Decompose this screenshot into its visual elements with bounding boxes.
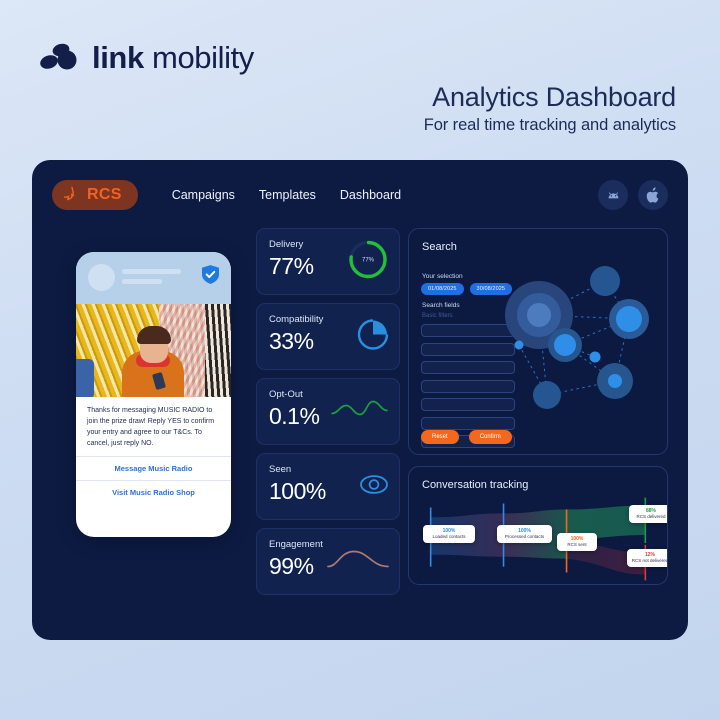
- engagement-sparkline-chart: [326, 546, 390, 577]
- search-panel-title: Search: [409, 229, 667, 253]
- funnel-node-rcs-delivered: 88% RCS delivered: [629, 505, 668, 523]
- phone-preview: Thanks for messaging MUSIC RADIO to join…: [76, 252, 231, 537]
- funnel-node-processed-contacts: 100% Processed contacts: [497, 525, 552, 543]
- node-label: RCS delivered: [633, 514, 668, 520]
- search-panel: Search Your selection 01/08/2025 30/08/2…: [408, 228, 668, 455]
- funnel-node-rcs-not-delivered: 12% RCS not delivered: [627, 549, 668, 567]
- delivery-donut-chart: 77%: [346, 237, 390, 286]
- node-label: RCS not delivered: [631, 558, 668, 564]
- search-fields-label: Search fields: [422, 302, 460, 309]
- rcs-chat-play-icon: [64, 187, 81, 204]
- phone-header: [76, 252, 231, 304]
- optout-sparkline-chart: [330, 396, 390, 427]
- brand-wordmark: link mobility: [92, 42, 254, 73]
- avatar: [88, 264, 115, 291]
- brand-name-light: mobility: [152, 40, 254, 75]
- brand-logo: link mobility: [40, 40, 254, 74]
- android-button[interactable]: [598, 180, 628, 210]
- conversation-tracking-panel: Conversation tracking: [408, 466, 668, 585]
- node-label: Loaded contacts: [427, 534, 471, 540]
- brand-name-bold: link: [92, 40, 144, 75]
- verified-shield-icon: [202, 265, 219, 284]
- message-body: Thanks for messaging MUSIC RADIO to join…: [76, 397, 231, 456]
- right-column: Search Your selection 01/08/2025 30/08/2…: [408, 228, 668, 620]
- android-icon: [605, 187, 622, 204]
- link-mobility-logo-icon: [40, 40, 82, 74]
- header-title-block: Analytics Dashboard For real time tracki…: [424, 82, 676, 135]
- sender-name-placeholder: [122, 269, 181, 274]
- kpi-card-seen[interactable]: Seen 100%: [256, 453, 400, 520]
- page-title: Analytics Dashboard: [424, 82, 676, 113]
- selection-label: Your selection: [422, 273, 463, 280]
- apple-button[interactable]: [638, 180, 668, 210]
- kpi-list: Delivery 77% 77% Compatibility 33%: [256, 228, 400, 595]
- basic-filters-label: Basic filters: [422, 313, 453, 319]
- phone-action-shop[interactable]: Visit Music Radio Shop: [76, 480, 231, 504]
- apple-icon: [646, 187, 661, 204]
- node-label: Processed contacts: [501, 534, 548, 540]
- network-bubble-chart: [495, 253, 663, 443]
- os-filter-group: [598, 180, 668, 210]
- seen-eye-icon: [358, 472, 390, 501]
- funnel-node-loaded-contacts: 100% Loaded contacts: [423, 525, 475, 543]
- donut-center-label: 77%: [362, 257, 375, 263]
- compatibility-pie-chart: [356, 317, 390, 356]
- sender-meta-placeholder: [122, 279, 162, 284]
- reset-button[interactable]: Reset: [421, 430, 459, 444]
- date-chip-from[interactable]: 01/08/2025: [421, 283, 464, 295]
- dashboard-panel: RCS Campaigns Templates Dashboard: [32, 160, 688, 640]
- kpi-card-engagement[interactable]: Engagement 99%: [256, 528, 400, 595]
- conversation-panel-title: Conversation tracking: [409, 467, 667, 491]
- top-nav: RCS Campaigns Templates Dashboard: [52, 178, 668, 212]
- nav-item-dashboard[interactable]: Dashboard: [340, 188, 401, 202]
- funnel-node-rcs-sent: 100% RCS sent: [557, 533, 597, 551]
- kpi-card-compatibility[interactable]: Compatibility 33%: [256, 303, 400, 370]
- node-label: RCS sent: [561, 542, 593, 548]
- phone-action-message[interactable]: Message Music Radio: [76, 456, 231, 480]
- page-subtitle: For real time tracking and analytics: [424, 116, 676, 135]
- campaign-image: [76, 304, 231, 397]
- nav-links: Campaigns Templates Dashboard: [172, 188, 401, 202]
- nav-item-campaigns[interactable]: Campaigns: [172, 188, 235, 202]
- dashboard-page: link mobility Analytics Dashboard For re…: [0, 0, 720, 720]
- kpi-card-delivery[interactable]: Delivery 77% 77%: [256, 228, 400, 295]
- rcs-badge[interactable]: RCS: [52, 180, 138, 210]
- rcs-badge-label: RCS: [87, 186, 122, 204]
- nav-item-templates[interactable]: Templates: [259, 188, 316, 202]
- kpi-card-optout[interactable]: Opt-Out 0.1%: [256, 378, 400, 445]
